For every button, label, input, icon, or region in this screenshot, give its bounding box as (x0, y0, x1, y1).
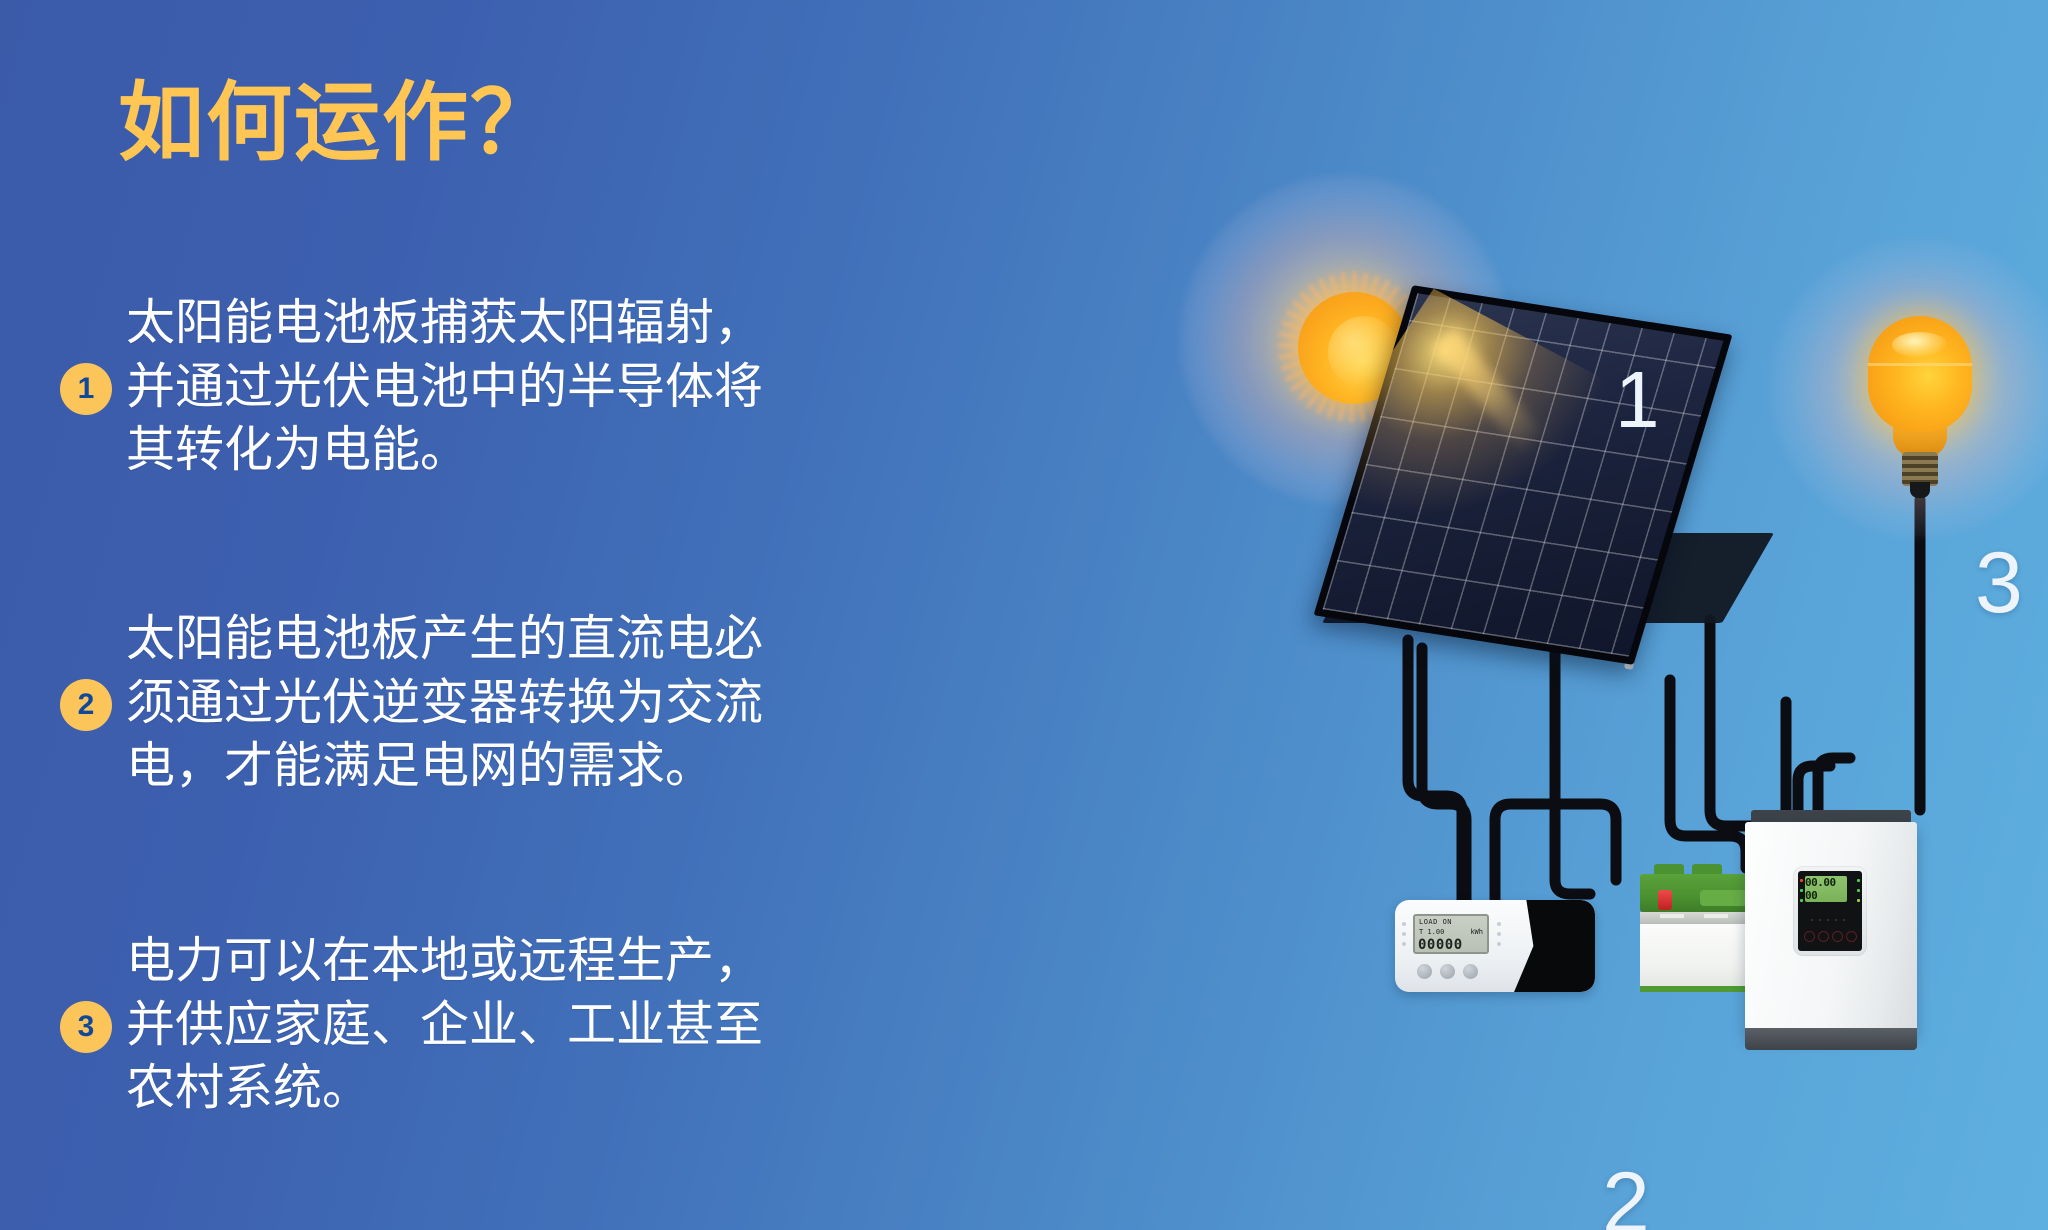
controller-indicator-dot (1497, 942, 1501, 946)
solar-system-illustration: LOAD ON T 1.00 kWh 00000 1.02 (1150, 120, 2048, 1120)
controller-button[interactable] (1417, 964, 1432, 979)
controller-display-value: 00000 1.02 (1418, 937, 1487, 954)
step-item-2: 2 太阳能电池板产生的直流电必 须通过光伏逆变器转换为交流 电，才能满足电网的需… (60, 608, 960, 799)
inverter: 00.00 00 (1745, 810, 1917, 1054)
inverter-led-green (1857, 889, 1860, 892)
inverter-case: 00.00 00 (1745, 822, 1917, 1034)
controller-button[interactable] (1440, 964, 1455, 979)
bulb-contact-tip (1910, 482, 1930, 498)
inverter-indicator-dot (1811, 919, 1813, 921)
controller-indicator-dot (1402, 942, 1406, 946)
inverter-button[interactable] (1846, 931, 1857, 942)
step-badge-3: 3 (60, 1001, 112, 1053)
callout-number-2: 2 (1602, 1160, 1650, 1230)
inverter-indicator-dot (1827, 919, 1829, 921)
inverter-button[interactable] (1804, 931, 1815, 942)
controller-display-unit: kWh (1470, 928, 1483, 936)
bulb-screw-base (1902, 452, 1938, 486)
solar-panel (1338, 310, 1768, 670)
controller-indicator-dot (1497, 922, 1501, 926)
callout-number-1: 1 (1615, 360, 1660, 440)
inverter-control-panel: 00.00 00 (1793, 866, 1867, 956)
battery-positive-terminal (1658, 890, 1672, 910)
step-item-3: 3 电力可以在本地或远程生产， 并供应家庭、企业、工业甚至 农村系统。 (60, 930, 960, 1121)
step-text-1: 太阳能电池板捕获太阳辐射， 并通过光伏电池中的半导体将 其转化为电能。 (126, 292, 763, 483)
charge-controller: LOAD ON T 1.00 kWh 00000 1.02 (1395, 900, 1595, 992)
battery-notch (1660, 914, 1684, 918)
charge-controller-panel (1507, 900, 1595, 992)
inverter-screen-bezel: 00.00 00 (1798, 871, 1862, 951)
inverter-display: 00.00 00 (1805, 876, 1847, 902)
inverter-led-green (1857, 879, 1860, 882)
battery-notch (1704, 914, 1728, 918)
controller-display-line2: T 1.00 (1419, 928, 1444, 936)
step-item-1: 1 太阳能电池板捕获太阳辐射， 并通过光伏电池中的半导体将 其转化为电能。 (60, 292, 960, 483)
controller-indicator-dot (1402, 922, 1406, 926)
inverter-indicator-dot (1835, 919, 1837, 921)
step-text-2: 太阳能电池板产生的直流电必 须通过光伏逆变器转换为交流 电，才能满足电网的需求。 (126, 608, 763, 799)
inverter-indicator-dot (1819, 919, 1821, 921)
inverter-button[interactable] (1832, 931, 1843, 942)
inverter-led-green (1800, 899, 1803, 902)
step-text-3: 电力可以在本地或远程生产， 并供应家庭、企业、工业甚至 农村系统。 (126, 930, 763, 1121)
controller-indicator-dot (1402, 932, 1406, 936)
page-title: 如何运作？ (118, 78, 558, 168)
inverter-led-red (1800, 879, 1803, 882)
step-badge-2: 2 (60, 679, 112, 731)
inverter-led-green (1800, 889, 1803, 892)
controller-button[interactable] (1463, 964, 1478, 979)
bulb-highlight (1892, 332, 1948, 358)
inverter-indicator-dot (1843, 919, 1845, 921)
callout-number-3: 3 (1975, 540, 2023, 626)
bulb-seam (1868, 363, 1972, 366)
charge-controller-display: LOAD ON T 1.00 kWh 00000 1.02 (1413, 914, 1489, 954)
step-badge-1: 1 (60, 363, 112, 415)
controller-indicator-dot (1497, 932, 1501, 936)
controller-display-line1: LOAD ON (1419, 918, 1452, 926)
inverter-button[interactable] (1818, 931, 1829, 942)
slide-root: 如何运作？ 1 太阳能电池板捕获太阳辐射， 并通过光伏电池中的半导体将 其转化为… (0, 0, 2048, 1230)
inverter-base (1745, 1028, 1917, 1050)
inverter-led-green (1857, 899, 1860, 902)
